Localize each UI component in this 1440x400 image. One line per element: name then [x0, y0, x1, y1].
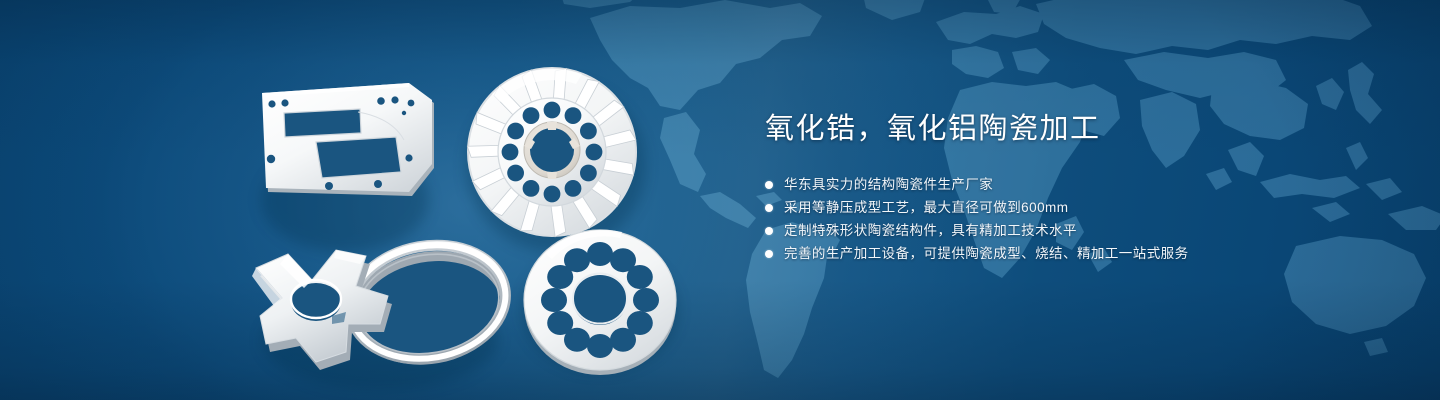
bullet-dot-icon — [765, 227, 773, 235]
bullet-dot-icon — [765, 250, 773, 258]
feature-list-item: 完善的生产加工设备，可提供陶瓷成型、烧结、精加工一站式服务 — [765, 242, 1385, 265]
banner-headline: 氧化锆，氧化铝陶瓷加工 — [765, 110, 1385, 148]
feature-text: 完善的生产加工设备，可提供陶瓷成型、烧结、精加工一站式服务 — [784, 242, 1189, 265]
banner-text-block: 氧化锆，氧化铝陶瓷加工 华东具实力的结构陶瓷件生产厂家 采用等静压成型工艺，最大… — [765, 110, 1385, 265]
ceramic-products-image — [0, 0, 720, 400]
hero-banner: 氧化锆，氧化铝陶瓷加工 华东具实力的结构陶瓷件生产厂家 采用等静压成型工艺，最大… — [0, 0, 1440, 400]
feature-text: 华东具实力的结构陶瓷件生产厂家 — [784, 173, 993, 196]
bullet-dot-icon — [765, 204, 773, 212]
bullet-dot-icon — [765, 181, 773, 189]
ceramic-mounting-plate-shape — [262, 83, 434, 196]
feature-list-item: 定制特殊形状陶瓷结构件，具有精加工技术水平 — [765, 219, 1385, 242]
feature-list: 华东具实力的结构陶瓷件生产厂家 采用等静压成型工艺，最大直径可做到600mm 定… — [765, 173, 1385, 265]
feature-list-item: 采用等静压成型工艺，最大直径可做到600mm — [765, 196, 1385, 219]
feature-list-item: 华东具实力的结构陶瓷件生产厂家 — [765, 173, 1385, 196]
feature-text: 采用等静压成型工艺，最大直径可做到600mm — [784, 196, 1068, 219]
ceramic-perforated-disc-shape — [524, 230, 676, 375]
feature-text: 定制特殊形状陶瓷结构件，具有精加工技术水平 — [784, 219, 1077, 242]
